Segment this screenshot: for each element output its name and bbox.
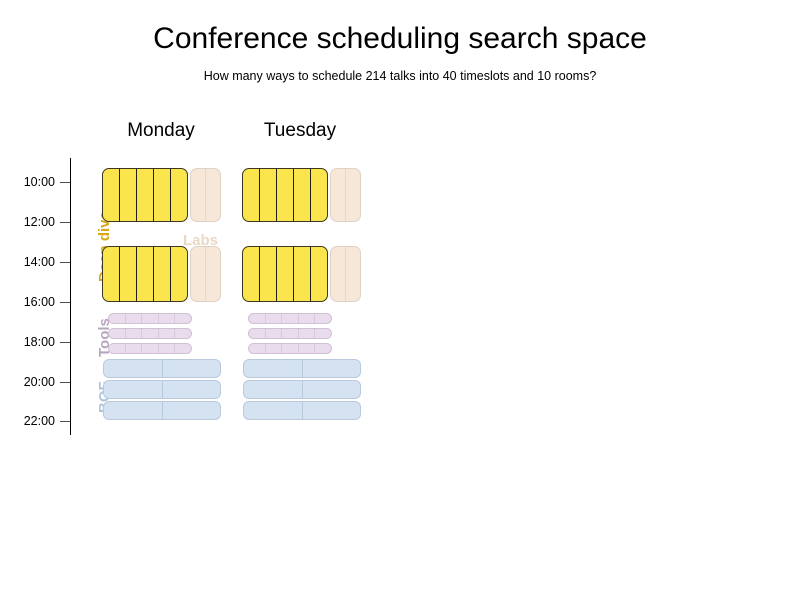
room-cell[interactable] <box>281 329 298 338</box>
room-cell[interactable] <box>243 169 259 221</box>
block-tools-monday-1[interactable] <box>108 313 192 324</box>
room-cell[interactable] <box>109 329 125 338</box>
room-cell[interactable] <box>119 247 136 301</box>
room-cell[interactable] <box>243 247 259 301</box>
room-cell[interactable] <box>244 381 302 398</box>
block-labs-monday-1[interactable] <box>190 168 221 222</box>
y-tick-mark <box>60 302 70 303</box>
y-tick-mark <box>60 342 70 343</box>
y-tick-label: 16:00 <box>0 295 55 309</box>
room-cell[interactable] <box>125 329 142 338</box>
day-header-monday: Monday <box>81 119 241 143</box>
block-bof-tuesday-3[interactable] <box>243 401 361 420</box>
room-cell[interactable] <box>298 329 315 338</box>
y-tick-mark <box>60 262 70 263</box>
room-cell[interactable] <box>298 314 315 323</box>
room-cell[interactable] <box>249 329 265 338</box>
room-cell[interactable] <box>119 169 136 221</box>
room-cell[interactable] <box>174 344 191 353</box>
block-tools-tuesday-1[interactable] <box>248 313 332 324</box>
room-cell[interactable] <box>109 344 125 353</box>
y-tick-mark <box>60 382 70 383</box>
room-cell[interactable] <box>249 344 265 353</box>
block-bof-tuesday-1[interactable] <box>243 359 361 378</box>
room-cell[interactable] <box>141 329 158 338</box>
room-cell[interactable] <box>281 314 298 323</box>
block-labs-tuesday-1[interactable] <box>330 168 361 222</box>
room-cell[interactable] <box>153 169 170 221</box>
room-cell[interactable] <box>170 169 187 221</box>
block-tools-tuesday-2[interactable] <box>248 328 332 339</box>
room-cell[interactable] <box>103 247 119 301</box>
room-cell[interactable] <box>125 314 142 323</box>
block-deep-dive-monday-2[interactable] <box>102 246 188 302</box>
room-cell[interactable] <box>302 360 361 377</box>
y-tick-mark <box>60 222 70 223</box>
block-bof-monday-3[interactable] <box>103 401 221 420</box>
y-tick-label: 10:00 <box>0 175 55 189</box>
room-cell[interactable] <box>125 344 142 353</box>
room-cell[interactable] <box>244 360 302 377</box>
block-bof-monday-1[interactable] <box>103 359 221 378</box>
chart-canvas: Conference scheduling search space How m… <box>0 0 800 600</box>
room-cell[interactable] <box>191 247 205 301</box>
room-cell[interactable] <box>276 169 293 221</box>
room-cell[interactable] <box>141 344 158 353</box>
room-cell[interactable] <box>298 344 315 353</box>
page-title: Conference scheduling search space <box>0 21 800 57</box>
y-tick-mark <box>60 182 70 183</box>
room-cell[interactable] <box>265 314 282 323</box>
room-cell[interactable] <box>109 314 125 323</box>
room-cell[interactable] <box>153 247 170 301</box>
room-cell[interactable] <box>310 247 327 301</box>
room-cell[interactable] <box>174 329 191 338</box>
room-cell[interactable] <box>265 329 282 338</box>
y-tick-label: 14:00 <box>0 255 55 269</box>
room-cell[interactable] <box>345 169 360 221</box>
room-cell[interactable] <box>162 402 221 419</box>
room-cell[interactable] <box>162 360 221 377</box>
room-cell[interactable] <box>158 344 175 353</box>
room-cell[interactable] <box>331 247 345 301</box>
room-cell[interactable] <box>174 314 191 323</box>
room-cell[interactable] <box>314 314 331 323</box>
block-deep-dive-tuesday-1[interactable] <box>242 168 328 222</box>
room-cell[interactable] <box>104 402 162 419</box>
caption-labs: Labs <box>183 232 218 249</box>
y-tick-mark <box>60 421 70 422</box>
y-tick-label: 20:00 <box>0 375 55 389</box>
room-cell[interactable] <box>158 314 175 323</box>
room-cell[interactable] <box>293 169 310 221</box>
block-labs-monday-2[interactable] <box>190 246 221 302</box>
room-cell[interactable] <box>205 247 220 301</box>
room-cell[interactable] <box>302 402 361 419</box>
room-cell[interactable] <box>302 381 361 398</box>
room-cell[interactable] <box>141 314 158 323</box>
block-tools-monday-2[interactable] <box>108 328 192 339</box>
room-cell[interactable] <box>104 381 162 398</box>
room-cell[interactable] <box>259 247 276 301</box>
room-cell[interactable] <box>331 169 345 221</box>
y-tick-label: 12:00 <box>0 215 55 229</box>
room-cell[interactable] <box>265 344 282 353</box>
block-bof-tuesday-2[interactable] <box>243 380 361 399</box>
room-cell[interactable] <box>281 344 298 353</box>
room-cell[interactable] <box>259 169 276 221</box>
room-cell[interactable] <box>136 169 153 221</box>
block-deep-dive-monday-1[interactable] <box>102 168 188 222</box>
room-cell[interactable] <box>244 402 302 419</box>
chart-subtitle: How many ways to schedule 214 talks into… <box>0 68 800 84</box>
room-cell[interactable] <box>136 247 153 301</box>
room-cell[interactable] <box>103 169 119 221</box>
y-tick-label: 18:00 <box>0 335 55 349</box>
room-cell[interactable] <box>314 344 331 353</box>
room-cell[interactable] <box>293 247 310 301</box>
room-cell[interactable] <box>205 169 220 221</box>
y-axis-line <box>70 158 71 435</box>
room-cell[interactable] <box>162 381 221 398</box>
block-tools-tuesday-3[interactable] <box>248 343 332 354</box>
block-bof-monday-2[interactable] <box>103 380 221 399</box>
room-cell[interactable] <box>170 247 187 301</box>
room-cell[interactable] <box>191 169 205 221</box>
block-tools-monday-3[interactable] <box>108 343 192 354</box>
block-deep-dive-tuesday-2[interactable] <box>242 246 328 302</box>
room-cell[interactable] <box>104 360 162 377</box>
room-cell[interactable] <box>314 329 331 338</box>
room-cell[interactable] <box>276 247 293 301</box>
day-header-tuesday: Tuesday <box>220 119 380 143</box>
room-cell[interactable] <box>345 247 360 301</box>
room-cell[interactable] <box>310 169 327 221</box>
room-cell[interactable] <box>249 314 265 323</box>
block-labs-tuesday-2[interactable] <box>330 246 361 302</box>
y-tick-label: 22:00 <box>0 414 55 428</box>
room-cell[interactable] <box>158 329 175 338</box>
